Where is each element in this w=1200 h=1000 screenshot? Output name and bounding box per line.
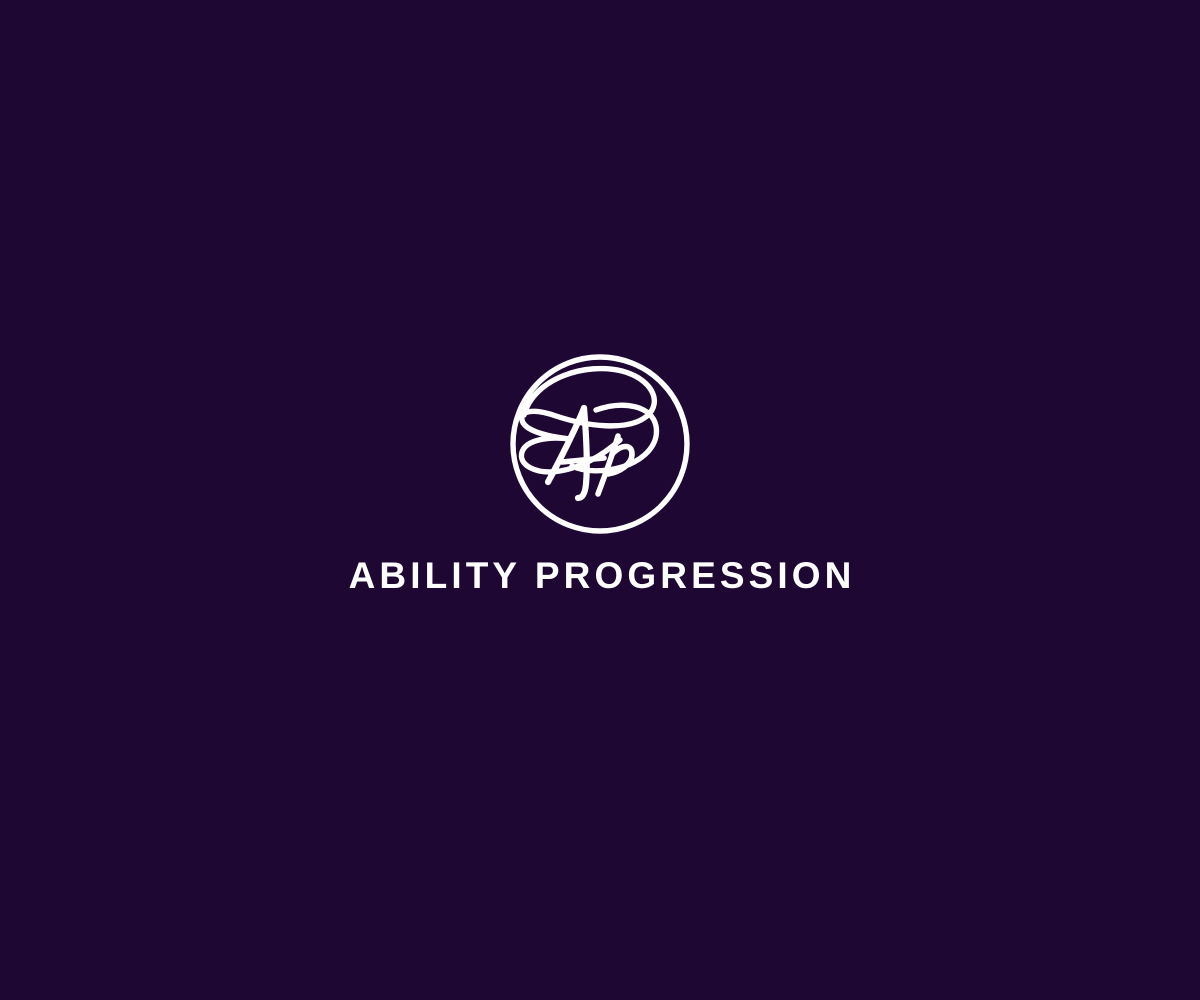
logo-letter-a-crossbar <box>562 458 604 462</box>
logo-canvas: ABILITY PROGRESSION <box>0 0 1200 1000</box>
logo-outer-circle <box>513 357 687 531</box>
brand-wordmark: ABILITY PROGRESSION <box>345 557 856 594</box>
ap-monogram-circle-icon <box>500 344 700 544</box>
brand-lockup: ABILITY PROGRESSION <box>0 0 1200 1000</box>
logo-letter-p-stem <box>598 436 618 494</box>
